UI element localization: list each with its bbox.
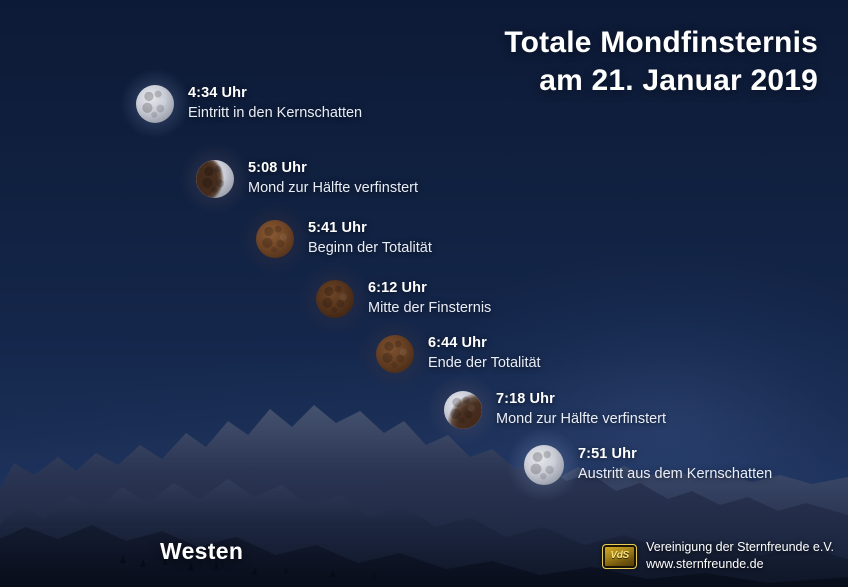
title-line-2: am 21. Januar 2019 bbox=[504, 62, 818, 100]
moon-disc bbox=[196, 160, 234, 198]
moon-disc bbox=[444, 391, 482, 429]
direction-label-west: Westen bbox=[160, 538, 243, 565]
phase-row-3: 5:41 Uhr Beginn der Totalität bbox=[256, 219, 432, 258]
phase-time: 7:18 Uhr bbox=[496, 390, 666, 410]
attribution-text: Vereinigung der Sternfreunde e.V. www.st… bbox=[646, 539, 834, 573]
vds-logo-text: VdS bbox=[610, 551, 629, 561]
phase-row-1: 4:34 Uhr Eintritt in den Kernschatten bbox=[136, 84, 362, 123]
page-title: Totale Mondfinsternis am 21. Januar 2019 bbox=[504, 24, 818, 99]
moon-disc bbox=[136, 85, 174, 123]
phase-label-3: 5:41 Uhr Beginn der Totalität bbox=[308, 219, 432, 258]
website-url[interactable]: www.sternfreunde.de bbox=[646, 556, 834, 573]
moon-disc bbox=[524, 445, 564, 485]
full-moon-icon bbox=[136, 85, 174, 123]
partial-eclipse-moon-icon bbox=[196, 160, 234, 198]
eclipse-infographic: Totale Mondfinsternis am 21. Januar 2019… bbox=[0, 0, 848, 587]
phase-description: Mond zur Hälfte verfinstert bbox=[248, 179, 418, 199]
moon-disc bbox=[316, 280, 354, 318]
phase-time: 6:12 Uhr bbox=[368, 279, 491, 299]
phase-label-1: 4:34 Uhr Eintritt in den Kernschatten bbox=[188, 84, 362, 123]
umbra-shadow bbox=[196, 160, 234, 198]
umbra-shadow bbox=[444, 391, 482, 429]
organisation-name: Vereinigung der Sternfreunde e.V. bbox=[646, 540, 834, 554]
phase-time: 6:44 Uhr bbox=[428, 334, 541, 354]
phase-time: 4:34 Uhr bbox=[188, 84, 362, 104]
phase-description: Beginn der Totalität bbox=[308, 239, 432, 259]
phase-label-2: 5:08 Uhr Mond zur Hälfte verfinstert bbox=[248, 159, 418, 198]
total-eclipse-moon-icon bbox=[256, 220, 294, 258]
phase-row-7: 7:51 Uhr Austritt aus dem Kernschatten bbox=[524, 445, 772, 485]
total-eclipse-moon-icon bbox=[376, 335, 414, 373]
phase-row-2: 5:08 Uhr Mond zur Hälfte verfinstert bbox=[196, 159, 418, 198]
title-line-1: Totale Mondfinsternis bbox=[504, 26, 818, 59]
phase-row-6: 7:18 Uhr Mond zur Hälfte verfinstert bbox=[444, 390, 666, 429]
phase-row-5: 6:44 Uhr Ende der Totalität bbox=[376, 334, 541, 373]
phase-time: 5:41 Uhr bbox=[308, 219, 432, 239]
attribution[interactable]: VdS Vereinigung der Sternfreunde e.V. ww… bbox=[602, 539, 834, 573]
phase-time: 5:08 Uhr bbox=[248, 159, 418, 179]
phase-description: Mitte der Finsternis bbox=[368, 299, 491, 319]
moon-disc bbox=[376, 335, 414, 373]
phase-description: Austritt aus dem Kernschatten bbox=[578, 465, 772, 485]
phase-description: Mond zur Hälfte verfinstert bbox=[496, 410, 666, 430]
phase-description: Ende der Totalität bbox=[428, 354, 541, 374]
phase-label-6: 7:18 Uhr Mond zur Hälfte verfinstert bbox=[496, 390, 666, 429]
total-eclipse-moon-icon bbox=[316, 280, 354, 318]
full-moon-icon bbox=[524, 445, 564, 485]
moon-disc bbox=[256, 220, 294, 258]
phase-time: 7:51 Uhr bbox=[578, 445, 772, 465]
phase-label-7: 7:51 Uhr Austritt aus dem Kernschatten bbox=[578, 445, 772, 484]
phase-row-4: 6:12 Uhr Mitte der Finsternis bbox=[316, 279, 491, 318]
partial-eclipse-moon-icon bbox=[444, 391, 482, 429]
phase-description: Eintritt in den Kernschatten bbox=[188, 104, 362, 124]
phase-label-5: 6:44 Uhr Ende der Totalität bbox=[428, 334, 541, 373]
vds-logo-icon[interactable]: VdS bbox=[602, 544, 637, 569]
phase-label-4: 6:12 Uhr Mitte der Finsternis bbox=[368, 279, 491, 318]
